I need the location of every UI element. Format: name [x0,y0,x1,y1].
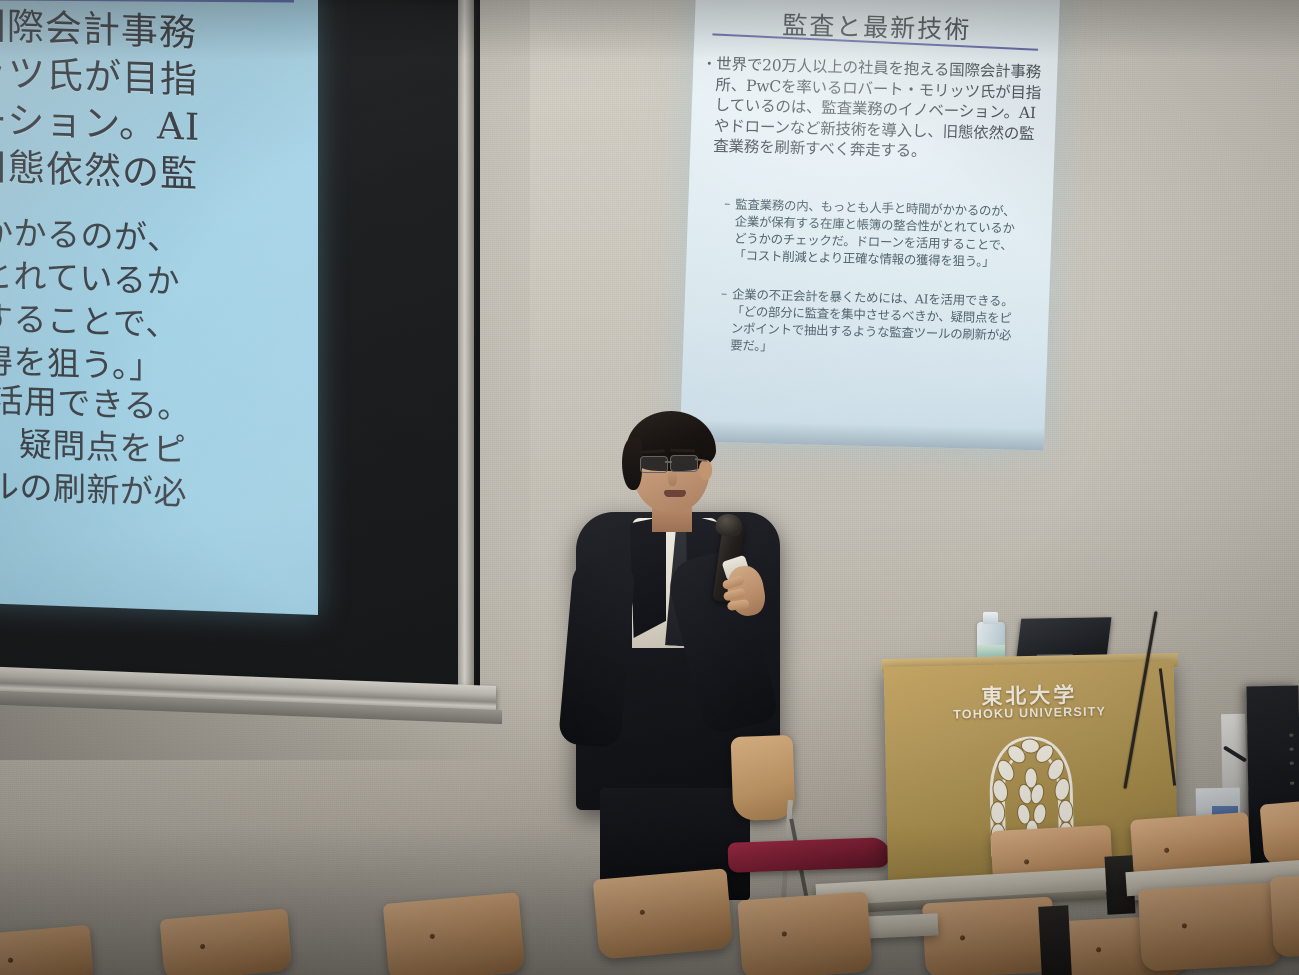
slide-sub-bullet-2-text: 企業の不正会計を暴くためには、AIを活用できる。 「どの部分に監査を集中させるべ… [730,286,1014,361]
slide-left-rule [0,0,294,3]
slide-main-bullet: • 世界で20万人以上の社員を抱える国際会計事務 所、PwCを率いるロバート・モ… [704,54,1052,165]
chair-back [922,897,1056,975]
eyeglasses-bridge [665,461,672,463]
slide-left-text-block-2: と時間がかかるのが、 整合性がとれているか ンを活用することで、 情報の獲得を狙… [0,206,316,394]
nose [668,470,677,486]
jacket-lapel-left [630,516,666,638]
ear [699,460,712,480]
finger [727,599,750,611]
projection-screen-left: 抱える国際会計事務 ・モリッツ氏が目指 イノベーション。AI 入し、旧態依然の監… [0,0,318,615]
chair-back [1260,795,1299,866]
chair-back [593,868,733,959]
mouth [664,490,686,497]
chair-back [0,925,94,975]
chair-back [737,892,872,975]
slide-left-text-block-3: は、AIを活用できる。 るべきか、疑問点をピ 監査ツールの刷新が必 [0,374,318,519]
hair-sideburn [622,438,642,490]
red-bag-on-chair [728,837,891,873]
chair-back [1270,874,1299,957]
chair-back [160,909,293,975]
blackboard-frame [458,0,474,706]
chair-back [1138,882,1282,971]
projection-screen-right: Certified Public Accountants and Auditin… [680,0,1060,450]
bullet-marker-icon: • [704,54,712,157]
chair-back [383,892,525,975]
sub-bullet-marker-icon: – [719,285,727,353]
eyeglasses-lens-left [640,456,668,473]
slide-sub-bullet-2: – 企業の不正会計を暴くためには、AIを活用できる。 「どの部分に監査を集中させ… [719,285,1051,361]
sub-bullet-marker-icon: – [722,195,730,263]
seat-gap [1038,905,1072,975]
bottle-cap [983,612,998,624]
slide-sub-bullet-1: – 監査業務の内、もっとも人手と時間がかかるのが、 企業が保有する在庫と帳簿の整… [722,195,1054,271]
slide-main-bullet-text: 世界で20万人以上の社員を抱える国際会計事務 所、PwCを率いるロバート・モリッ… [713,54,1042,165]
lecture-hall-photo: 抱える国際会計事務 ・モリッツ氏が目指 イノベーション。AI 入し、旧態依然の監… [0,0,1299,975]
slide-sub-bullet-1-text: 監査業務の内、もっとも人手と時間がかかるのが、 企業が保有する在庫と帳簿の整合性… [733,196,1015,271]
chair-behind-speaker [731,735,796,821]
